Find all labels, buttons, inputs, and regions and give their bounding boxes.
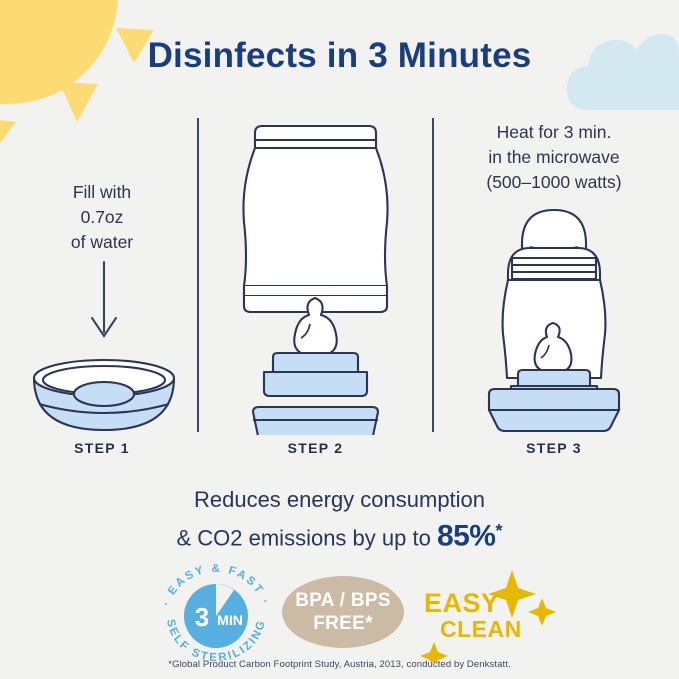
easy-clean-line-1: EASY — [424, 590, 522, 616]
step3-caption: Heat for 3 min. in the microwave (500–10… — [434, 120, 674, 195]
easy-clean-text: EASY CLEAN — [424, 590, 522, 642]
step2-label: STEP 2 — [200, 440, 431, 456]
step-column-3: Heat for 3 min. in the microwave (500–10… — [434, 110, 674, 460]
claim-line-1: Reduces energy consumption — [0, 485, 679, 515]
badge-3min-number: 3 — [195, 602, 209, 632]
badge-easy-clean: EASY CLEAN — [420, 564, 560, 662]
step-column-2: STEP 2 — [200, 110, 431, 460]
badge-row: 3 MIN · EASY & FAST · SELF STERILIZING B… — [0, 562, 679, 657]
step1-caption-line3: of water — [8, 230, 196, 255]
step3-artwork-assembled-bottle — [434, 198, 674, 443]
easy-clean-line-2: CLEAN — [440, 616, 522, 642]
page-title: Disinfects in 3 Minutes — [0, 36, 679, 76]
step1-artwork-water-bowl — [8, 260, 196, 450]
badge-3min: 3 MIN · EASY & FAST · SELF STERILIZING — [152, 562, 280, 662]
badge-3min-unit: MIN — [217, 612, 243, 628]
badge-bpa-bps-free: BPA / BPS FREE* — [282, 576, 404, 648]
bpa-line-2: FREE* — [313, 612, 373, 635]
step1-label: STEP 1 — [8, 440, 196, 456]
claim-line2-prefix: & CO2 emissions by up to — [176, 525, 436, 550]
step1-caption: Fill with 0.7oz of water — [8, 180, 196, 255]
bpa-oval-shape: BPA / BPS FREE* — [282, 576, 404, 648]
divider-step1-step2 — [197, 118, 199, 432]
sparkle-medium-icon — [528, 598, 556, 626]
step3-caption-line2: in the microwave — [434, 145, 674, 170]
step3-caption-line1: Heat for 3 min. — [434, 120, 674, 145]
step1-caption-line1: Fill with — [8, 180, 196, 205]
step2-artwork-bottle-parts — [200, 110, 431, 440]
step3-caption-line3: (500–1000 watts) — [434, 170, 674, 195]
claim-line-2: & CO2 emissions by up to 85%* — [0, 515, 679, 554]
claim-percentage: 85% — [437, 519, 496, 552]
step1-caption-line2: 0.7oz — [8, 205, 196, 230]
infographic-canvas: Disinfects in 3 Minutes Fill with 0.7oz … — [0, 0, 679, 679]
footnote: *Global Product Carbon Footprint Study, … — [0, 659, 679, 670]
step-column-1: Fill with 0.7oz of water — [8, 110, 196, 460]
claim-block: Reduces energy consumption & CO2 emissio… — [0, 485, 679, 554]
step3-label: STEP 3 — [434, 440, 674, 456]
bpa-line-1: BPA / BPS — [295, 589, 391, 612]
claim-asterisk: * — [495, 521, 502, 541]
